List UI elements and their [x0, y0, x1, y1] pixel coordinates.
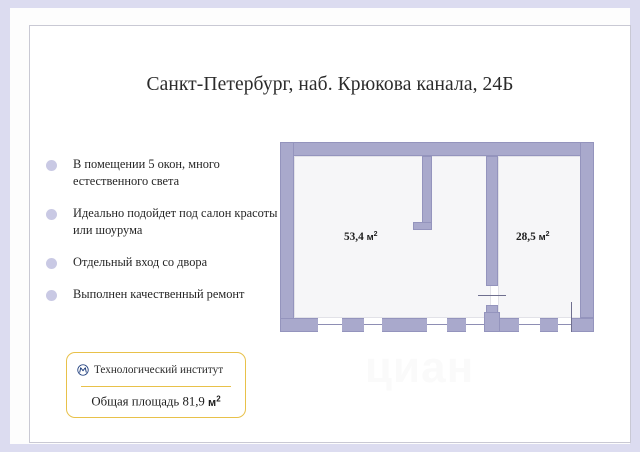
total-area-unit-exponent: 2: [216, 394, 220, 403]
room-left-area-value: 53,4: [344, 231, 364, 243]
bullet-dot-icon: [46, 209, 57, 220]
room-right-area-value: 28,5: [516, 231, 536, 243]
metro-row: Технологический институт: [77, 361, 237, 379]
door-swing-line: [478, 295, 506, 296]
bullet-dot-icon: [46, 258, 57, 269]
metro-station-label: Технологический институт: [94, 364, 223, 376]
total-area-value: 81,9: [182, 395, 204, 409]
bullet-dot-icon: [46, 290, 57, 301]
list-item-label: Идеально подойдет под салон красоты или …: [73, 205, 278, 239]
room-left-area-unit: м: [367, 232, 374, 243]
feature-list: В помещении 5 окон, много естественного …: [46, 156, 278, 318]
wall-top: [280, 142, 594, 156]
room-right-area-unit-exponent: 2: [546, 231, 550, 238]
window-glazing-line: [466, 324, 485, 325]
room-left-area-unit-exponent: 2: [374, 231, 378, 238]
wall-left: [280, 142, 294, 332]
window-glazing-line: [519, 324, 540, 325]
window-glazing-line: [364, 324, 382, 325]
list-item: Идеально подойдет под салон красоты или …: [46, 205, 278, 239]
wall-divider: [486, 156, 498, 286]
wall-pier-center: [484, 312, 500, 332]
floor-plan: 53,4 м2 28,5 м2: [280, 142, 594, 332]
total-area-row: Общая площадь 81,9 м2: [67, 394, 245, 410]
window-glazing-line: [427, 324, 447, 325]
slide-canvas: циан Санкт-Петербург, наб. Крюкова канал…: [10, 8, 630, 444]
room-left-area-label: 53,4 м2: [344, 231, 378, 243]
room-right-area-label: 28,5 м2: [516, 231, 550, 243]
wall-partition-stub: [422, 156, 432, 230]
metro-m-icon: [77, 364, 89, 376]
list-item: В помещении 5 окон, много естественного …: [46, 156, 278, 190]
list-item-label: Выполнен качественный ремонт: [73, 286, 278, 303]
info-badge: Технологический институт Общая площадь 8…: [66, 352, 246, 418]
total-area-label: Общая площадь: [91, 395, 179, 409]
dimension-tick-right: [571, 302, 572, 332]
bullet-dot-icon: [46, 160, 57, 171]
list-item-label: В помещении 5 окон, много естественного …: [73, 156, 278, 190]
badge-divider: [81, 386, 231, 387]
room-right-area-unit: м: [539, 232, 546, 243]
room-left-fill: [294, 156, 491, 318]
list-item: Отдельный вход со двора: [46, 254, 278, 271]
total-area-unit: м2: [208, 397, 221, 409]
wall-partition-foot: [413, 222, 432, 230]
list-item-label: Отдельный вход со двора: [73, 254, 278, 271]
wall-right: [580, 142, 594, 318]
window-glazing-line: [558, 324, 571, 325]
window-glazing-line: [318, 324, 342, 325]
page-title: Санкт-Петербург, наб. Крюкова канала, 24…: [40, 74, 620, 96]
list-item: Выполнен качественный ремонт: [46, 286, 278, 303]
